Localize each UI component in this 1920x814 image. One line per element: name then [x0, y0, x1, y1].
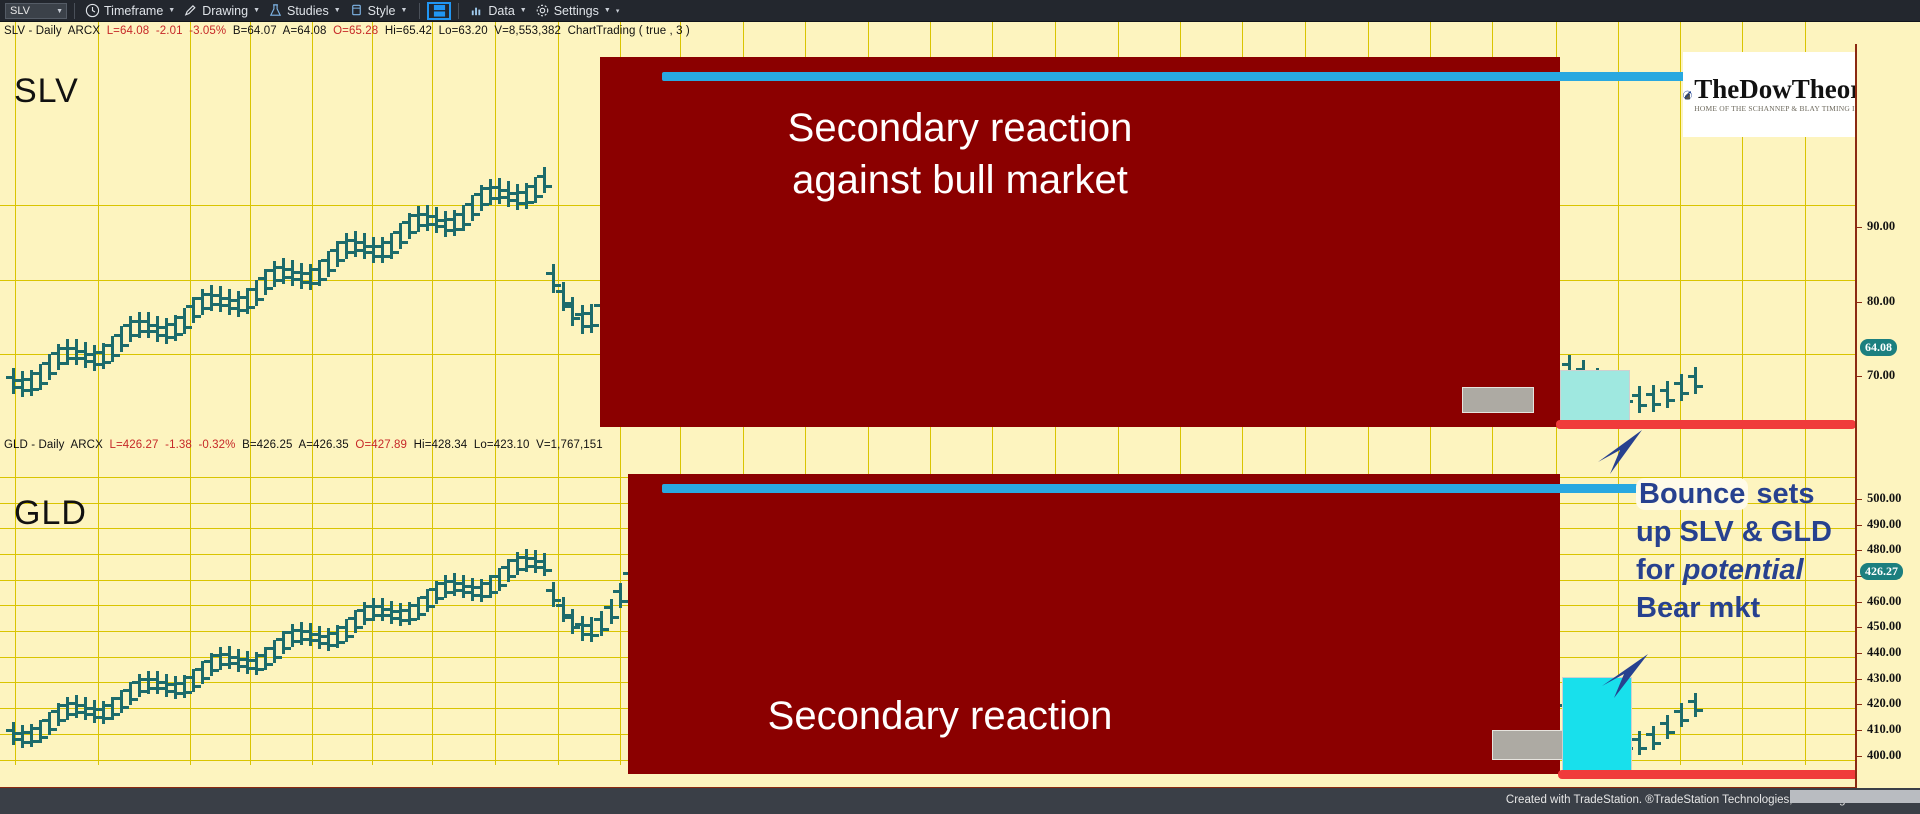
- toolbar-label-timeframe: Timeframe: [104, 4, 163, 18]
- slv-annotation-line2: against bull market: [660, 154, 1260, 206]
- clock-icon: [85, 3, 100, 18]
- price-tick-label: 400.00: [1867, 748, 1901, 763]
- toolbar-label-drawing: Drawing: [202, 4, 248, 18]
- toolbar-item-settings[interactable]: Settings ▼: [532, 1, 614, 21]
- slv-exchange: ARCX: [68, 25, 100, 37]
- price-tick: [1857, 550, 1862, 551]
- gld-change: -1.38: [165, 439, 192, 451]
- slv-open: O=65.28: [333, 25, 378, 37]
- gridline-vertical: [312, 22, 313, 765]
- price-tick: [1857, 730, 1862, 731]
- slv-annotation: Secondary reaction against bull market: [660, 102, 1260, 206]
- slv-change: -2.01: [156, 25, 183, 37]
- slv-bounce-box[interactable]: [1560, 370, 1630, 426]
- gld-open: O=427.89: [355, 439, 407, 451]
- slv-study: ChartTrading ( true , 3 ): [568, 25, 690, 37]
- slv-high: Hi=65.42: [385, 25, 432, 37]
- price-tick: [1857, 704, 1862, 705]
- price-tick: [1857, 227, 1862, 228]
- price-tick-label: 80.00: [1867, 294, 1895, 309]
- toolbar-item-timeframe[interactable]: Timeframe ▼: [82, 1, 178, 21]
- price-tick: [1857, 499, 1862, 500]
- price-tick: [1857, 627, 1862, 628]
- price-tick: [1857, 302, 1862, 303]
- slv-ask: A=64.08: [283, 25, 327, 37]
- toolbar-overflow-icon[interactable]: ▾: [616, 7, 620, 15]
- toolbar-divider: [458, 3, 459, 19]
- gld-annotation: Secondary reaction: [640, 690, 1240, 742]
- price-tick-label: 460.00: [1867, 594, 1901, 609]
- bounce-line3-a: for: [1636, 554, 1675, 586]
- price-tick-label: 420.00: [1867, 696, 1901, 711]
- gld-low: Lo=423.10: [474, 439, 530, 451]
- gld-volume: V=1,767,151: [536, 439, 603, 451]
- pencil-icon: [183, 3, 198, 18]
- toolbar-label-settings: Settings: [554, 4, 599, 18]
- gld-high: Hi=428.34: [414, 439, 468, 451]
- slv-volume: V=8,553,382: [494, 25, 561, 37]
- logo-mark-icon: [1683, 58, 1692, 132]
- layout-toggle-button[interactable]: [427, 2, 451, 20]
- slv-bid: B=64.07: [233, 25, 277, 37]
- slv-annotation-line1: Secondary reaction: [660, 102, 1260, 154]
- toolbar-item-style[interactable]: Style ▼: [346, 1, 411, 21]
- bounce-callout-line3: for potential: [1636, 551, 1855, 589]
- plot-area[interactable]: SLV - Daily ARCX L=64.08 -2.01 -3.05% B=…: [0, 22, 1855, 788]
- dowtheory-logo: TheDowTheory.com HOME OF THE SCHANNEP & …: [1683, 52, 1855, 137]
- style-icon: [349, 3, 364, 18]
- chart-canvas[interactable]: SLV - Daily ARCX L=64.08 -2.01 -3.05% B=…: [0, 22, 1920, 788]
- gridline-vertical: [15, 22, 16, 765]
- bounce-callout-line4: Bear mkt: [1636, 589, 1855, 627]
- main-toolbar: SLV ▼ Timeframe ▼ Drawing ▼ Studies ▼ St…: [0, 0, 1920, 22]
- gld-support-line: [1558, 770, 1855, 779]
- toolbar-item-drawing[interactable]: Drawing ▼: [180, 1, 263, 21]
- gridline-vertical: [558, 22, 559, 765]
- gridline-vertical: [372, 22, 373, 765]
- slv-panel-label: SLV: [14, 72, 79, 111]
- gridline-vertical: [495, 22, 496, 765]
- gridline-vertical: [432, 22, 433, 765]
- price-tick-label: 410.00: [1867, 722, 1901, 737]
- price-tick-label: 450.00: [1867, 619, 1901, 634]
- toolbar-label-data: Data: [488, 4, 514, 18]
- gridline-vertical: [190, 22, 191, 765]
- slv-change-pct: -3.05%: [189, 25, 226, 37]
- toolbar-item-data[interactable]: Data ▼: [466, 1, 529, 21]
- price-tick: [1857, 679, 1862, 680]
- toolbar-label-studies: Studies: [287, 4, 329, 18]
- footer-bar: Created with TradeStation. ®TradeStation…: [0, 788, 1920, 814]
- horizontal-scrollbar[interactable]: [1790, 790, 1920, 803]
- chevron-down-icon[interactable]: ▼: [168, 7, 175, 14]
- slv-symbol: SLV - Daily: [4, 25, 62, 37]
- slv-price-badge: 64.08: [1860, 339, 1897, 356]
- gld-panel-label: GLD: [14, 494, 87, 533]
- gld-last: L=426.27: [109, 439, 158, 451]
- toolbar-divider: [74, 3, 75, 19]
- price-tick-label: 500.00: [1867, 491, 1901, 506]
- chevron-down-icon[interactable]: ▼: [520, 7, 527, 14]
- bounce-line3-b: potential: [1683, 554, 1804, 586]
- bounce-line1-rest: sets: [1756, 478, 1814, 510]
- price-tick: [1857, 602, 1862, 603]
- price-tick-label: 430.00: [1867, 671, 1901, 686]
- chevron-down-icon[interactable]: ▼: [400, 7, 407, 14]
- chevron-down-icon[interactable]: ▼: [56, 8, 63, 15]
- price-tick-label: 70.00: [1867, 368, 1895, 383]
- toolbar-item-studies[interactable]: Studies ▼: [265, 1, 344, 21]
- gld-bid: B=426.25: [242, 439, 292, 451]
- price-tick-label: 490.00: [1867, 517, 1901, 532]
- toolbar-label-style: Style: [368, 4, 396, 18]
- slv-consolidation-box: [1462, 387, 1534, 413]
- gld-status-line: GLD - Daily ARCX L=426.27 -1.38 -0.32% B…: [4, 439, 603, 451]
- gld-price-badge: 426.27: [1860, 563, 1903, 580]
- gld-change-pct: -0.32%: [198, 439, 235, 451]
- price-tick: [1857, 525, 1862, 526]
- bar-data-icon: [469, 3, 484, 18]
- price-tick-label: 480.00: [1867, 542, 1901, 557]
- gld-reaction-top-line: [662, 484, 1702, 493]
- flask-icon: [268, 3, 283, 18]
- gld-bounce-arrow-icon: [1590, 652, 1660, 712]
- bounce-callout-line1: Bounce sets: [1636, 475, 1855, 513]
- slv-last: L=64.08: [107, 25, 150, 37]
- slv-status-line: SLV - Daily ARCX L=64.08 -2.01 -3.05% B=…: [4, 25, 690, 37]
- slv-reaction-top-line: [662, 72, 1702, 81]
- gridline-vertical: [250, 22, 251, 765]
- chevron-down-icon[interactable]: ▼: [604, 7, 611, 14]
- gld-ask: A=426.35: [298, 439, 348, 451]
- gridline-vertical: [98, 22, 99, 765]
- chevron-down-icon[interactable]: ▼: [253, 7, 260, 14]
- logo-text: TheDowTheory.com: [1694, 75, 1855, 103]
- gld-annotation-line1: Secondary reaction: [640, 690, 1240, 742]
- chevron-down-icon[interactable]: ▼: [334, 7, 341, 14]
- gld-consolidation-box: [1492, 730, 1564, 760]
- price-tick-label: 440.00: [1867, 645, 1901, 660]
- price-tick-label: 90.00: [1867, 219, 1895, 234]
- bounce-callout-line2: up SLV & GLD: [1636, 513, 1855, 551]
- price-tick: [1857, 756, 1862, 757]
- symbol-input[interactable]: SLV ▼: [5, 3, 67, 19]
- gld-exchange: ARCX: [71, 439, 103, 451]
- price-tick: [1857, 376, 1862, 377]
- slv-low: Lo=63.20: [439, 25, 488, 37]
- price-tick: [1857, 653, 1862, 654]
- price-axis[interactable]: 90.0080.0070.00500.00490.00480.00470.004…: [1855, 44, 1920, 788]
- gear-icon: [535, 3, 550, 18]
- gld-symbol: GLD - Daily: [4, 439, 65, 451]
- toolbar-divider: [419, 3, 420, 19]
- logo-subtitle: HOME OF THE SCHANNEP & BLAY TIMING INDIC…: [1694, 103, 1855, 114]
- bounce-highlight-word: Bounce: [1636, 478, 1748, 510]
- bounce-callout: Bounce sets up SLV & GLD for potential B…: [1636, 475, 1855, 627]
- symbol-value: SLV: [10, 5, 30, 17]
